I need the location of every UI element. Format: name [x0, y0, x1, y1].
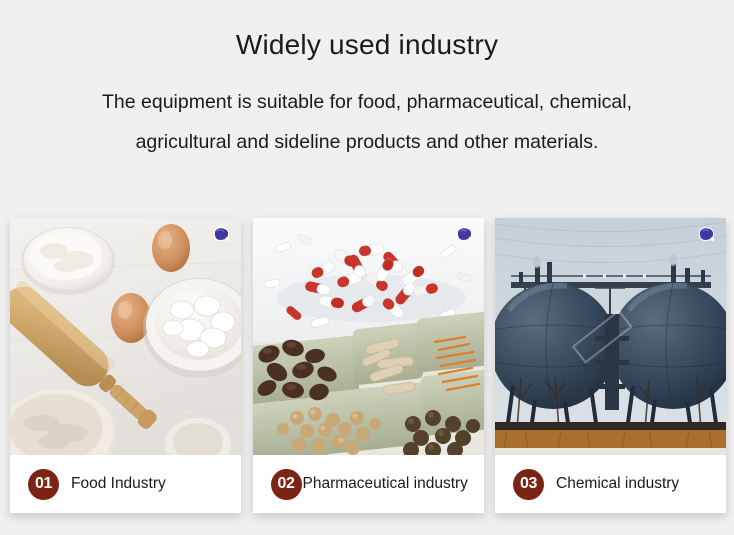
- page-subtitle-line-2: agricultural and sideline products and o…: [27, 122, 707, 162]
- food-industry-caption: 01 Food Industry: [10, 455, 241, 513]
- industry-card-chemical[interactable]: 03 Chemical industry: [495, 218, 726, 513]
- page-subtitle: The equipment is suitable for food, phar…: [27, 62, 707, 162]
- industry-card-list: 01 Food Industry: [10, 218, 726, 513]
- chemical-industry-image: [495, 218, 726, 455]
- card-number-badge: 02: [271, 469, 302, 500]
- chemical-industry-caption: 03 Chemical industry: [495, 455, 726, 513]
- watermark-badge-icon: [211, 226, 231, 243]
- industry-card-food[interactable]: 01 Food Industry: [10, 218, 241, 513]
- page-title: Widely used industry: [0, 0, 734, 62]
- watermark-badge-icon: [454, 226, 474, 243]
- page-subtitle-line-1: The equipment is suitable for food, phar…: [27, 82, 707, 122]
- watermark-badge-icon: [696, 226, 716, 243]
- card-label: Chemical industry: [544, 475, 679, 493]
- card-number-badge: 03: [513, 469, 544, 500]
- pharmaceutical-industry-image: [253, 218, 484, 455]
- card-label: Food Industry: [59, 475, 166, 493]
- card-label: Pharmaceutical industry: [302, 475, 468, 493]
- industry-card-pharmaceutical[interactable]: 02 Pharmaceutical industry: [253, 218, 484, 513]
- pharmaceutical-industry-caption: 02 Pharmaceutical industry: [253, 455, 484, 513]
- food-industry-image: [10, 218, 241, 455]
- promo-banner: Widely used industry The equipment is su…: [0, 0, 734, 162]
- card-number-badge: 01: [28, 469, 59, 500]
